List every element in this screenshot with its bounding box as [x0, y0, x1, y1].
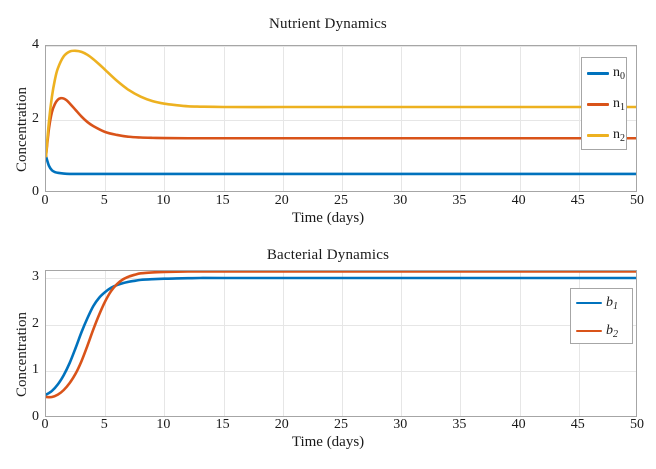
figure-canvas: Nutrient Dynamics 05101520253035404550 0…	[0, 0, 656, 469]
bottom-x-axis-label: Time (days)	[0, 434, 656, 451]
bottom-plot-area	[45, 270, 637, 417]
bottom-chart-title: Bacterial Dynamics	[0, 247, 656, 264]
x-tick-label: 15	[216, 417, 230, 433]
top-legend[interactable]: n0n1n2	[581, 57, 627, 150]
x-tick-label: 35	[452, 417, 466, 433]
series-line-b_2	[46, 271, 637, 397]
legend-item-b1[interactable]: b1	[571, 295, 632, 311]
x-tick-label: 5	[101, 417, 108, 433]
x-tick-label: 30	[393, 417, 407, 433]
legend-color-swatch	[587, 134, 609, 137]
x-tick-label: 5	[101, 193, 108, 209]
top-chart-title: Nutrient Dynamics	[0, 16, 656, 33]
x-tick-label: 50	[630, 417, 644, 433]
series-line-n_0	[46, 156, 637, 174]
x-tick-label: 20	[275, 417, 289, 433]
legend-item-label: b2	[606, 323, 618, 340]
legend-item-n2[interactable]: n2	[582, 128, 626, 144]
x-tick-label: 45	[571, 193, 585, 209]
bottom-legend[interactable]: b1b2	[570, 288, 633, 344]
x-tick-label: 10	[156, 193, 170, 209]
legend-color-swatch	[576, 330, 602, 333]
top-series-lines	[46, 46, 637, 192]
legend-item-label: n1	[613, 96, 625, 113]
x-tick-label: 10	[156, 417, 170, 433]
legend-color-swatch	[587, 103, 609, 106]
series-line-n_2	[46, 51, 637, 157]
x-tick-label: 25	[334, 193, 348, 209]
bottom-series-lines	[46, 271, 637, 417]
top-y-axis-label: Concentration	[14, 87, 31, 172]
legend-color-swatch	[576, 302, 602, 305]
bacterial-dynamics-panel: Bacterial Dynamics 05101520253035404550 …	[0, 235, 656, 469]
x-tick-label: 25	[334, 417, 348, 433]
y-tick-label: 4	[19, 37, 39, 53]
x-tick-label: 0	[42, 417, 49, 433]
legend-item-label: b1	[606, 295, 618, 312]
y-tick-label: 3	[19, 269, 39, 285]
x-tick-label: 15	[216, 193, 230, 209]
legend-item-label: n2	[613, 127, 625, 144]
bottom-y-axis-label: Concentration	[14, 312, 31, 397]
x-tick-label: 40	[512, 417, 526, 433]
nutrient-dynamics-panel: Nutrient Dynamics 05101520253035404550 0…	[0, 0, 656, 235]
y-tick-label: 0	[19, 184, 39, 200]
x-tick-label: 40	[512, 193, 526, 209]
x-tick-label: 30	[393, 193, 407, 209]
x-tick-label: 0	[42, 193, 49, 209]
x-tick-label: 50	[630, 193, 644, 209]
top-x-axis-label: Time (days)	[0, 210, 656, 227]
legend-item-b2[interactable]: b2	[571, 323, 632, 339]
x-tick-label: 45	[571, 417, 585, 433]
top-plot-area	[45, 45, 637, 192]
legend-item-n1[interactable]: n1	[582, 97, 626, 113]
x-tick-label: 35	[452, 193, 466, 209]
x-tick-label: 20	[275, 193, 289, 209]
legend-item-n0[interactable]: n0	[582, 66, 626, 82]
series-line-b_1	[46, 278, 637, 395]
legend-item-label: n0	[613, 65, 625, 82]
y-tick-label: 0	[19, 409, 39, 425]
legend-color-swatch	[587, 72, 609, 75]
